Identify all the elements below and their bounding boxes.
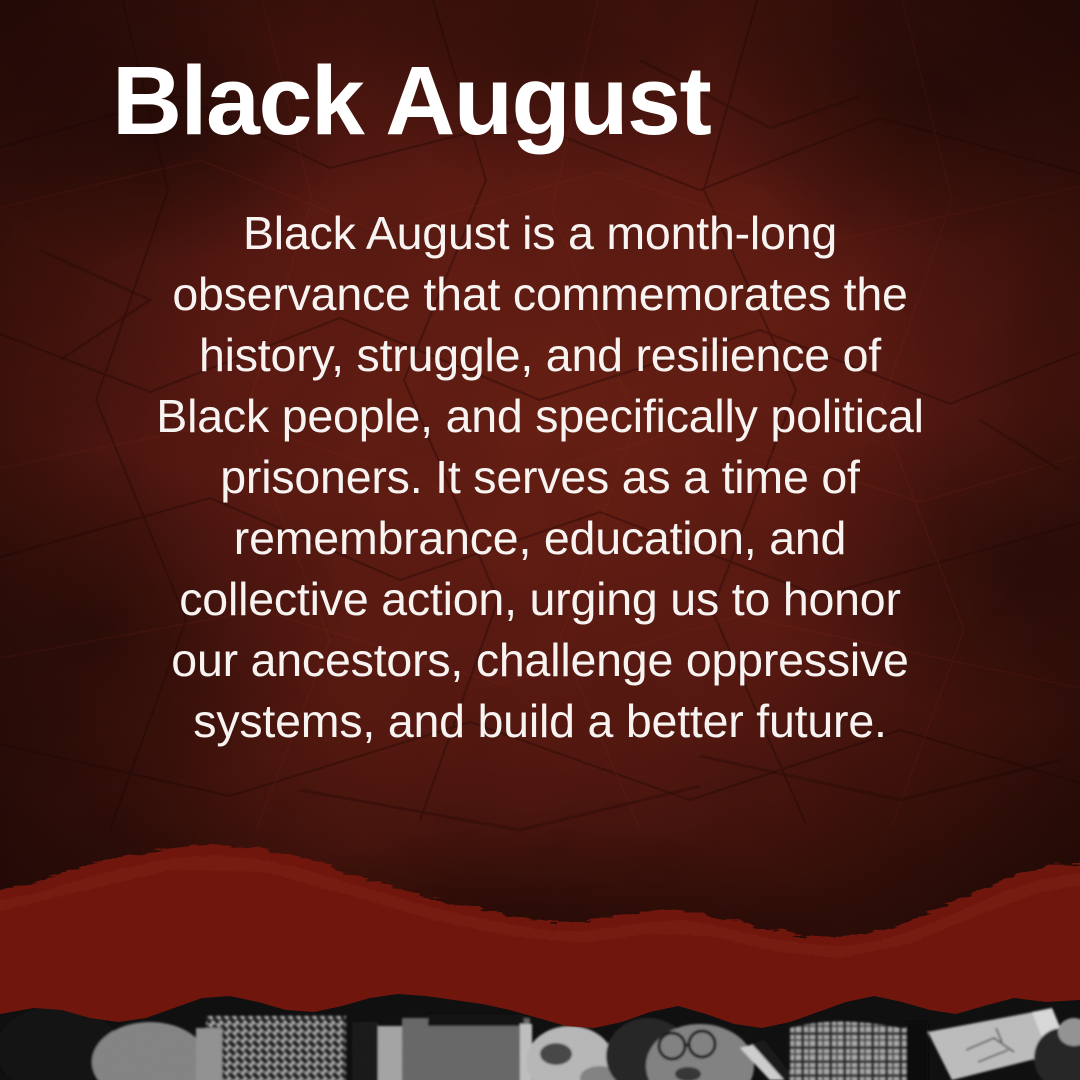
protest-photograph bbox=[0, 988, 1080, 1080]
body-paragraph: Black August is a month-long observance … bbox=[54, 203, 1026, 752]
black-august-poster: Black August Black August is a month-lon… bbox=[0, 0, 1080, 1080]
page-title: Black August bbox=[112, 52, 710, 149]
